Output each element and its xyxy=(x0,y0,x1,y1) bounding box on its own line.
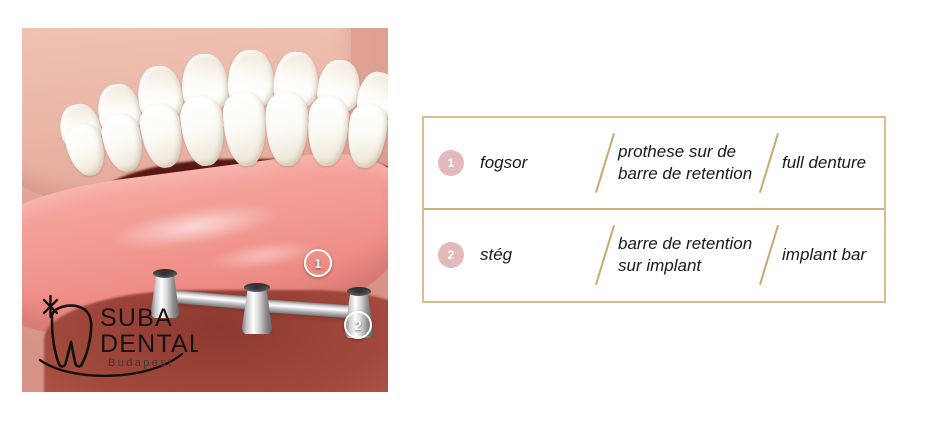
slash-separator-icon xyxy=(592,224,618,286)
sparkle-icon xyxy=(44,296,57,317)
terminology-legend-table: 1 fogsor prothese sur de barre de retent… xyxy=(422,116,886,303)
legend-badge-1-label: 1 xyxy=(448,156,455,170)
logo-line1: SUBA xyxy=(100,304,173,332)
photo-callout-2: 2 xyxy=(344,311,372,339)
legend-row: 2 stég barre de retention sur implant im… xyxy=(424,210,884,302)
legend-term-fr: barre de retention sur implant xyxy=(618,233,756,277)
tooth-icon xyxy=(52,306,91,367)
legend-term-fr: prothese sur de barre de retention xyxy=(618,141,756,185)
slash-separator-icon xyxy=(756,224,782,286)
clinical-photo: 1 2 SUBA DENTAL Budapest xyxy=(22,28,388,392)
photo-callout-2-label: 2 xyxy=(354,318,361,333)
slash-separator-icon xyxy=(592,132,618,194)
legend-term-en: implant bar xyxy=(782,244,870,266)
photo-callout-1-label: 1 xyxy=(314,256,321,271)
legend-badge-2-label: 2 xyxy=(448,248,455,262)
legend-term-hu: stég xyxy=(480,244,592,266)
photo-callout-1: 1 xyxy=(304,249,332,277)
suba-dental-logo: SUBA DENTAL Budapest xyxy=(30,294,198,380)
abutment-screw-top xyxy=(347,287,371,296)
logo-line3: Budapest xyxy=(108,357,174,369)
logo-line2: DENTAL xyxy=(100,330,198,358)
legend-term-en: full denture xyxy=(782,152,870,174)
abutment-screw-top xyxy=(244,283,270,292)
legend-badge-2: 2 xyxy=(438,242,464,268)
abutment-screw-top xyxy=(153,269,177,278)
legend-term-hu: fogsor xyxy=(480,152,592,174)
legend-row: 1 fogsor prothese sur de barre de retent… xyxy=(424,118,884,210)
slash-separator-icon xyxy=(756,132,782,194)
legend-badge-1: 1 xyxy=(438,150,464,176)
